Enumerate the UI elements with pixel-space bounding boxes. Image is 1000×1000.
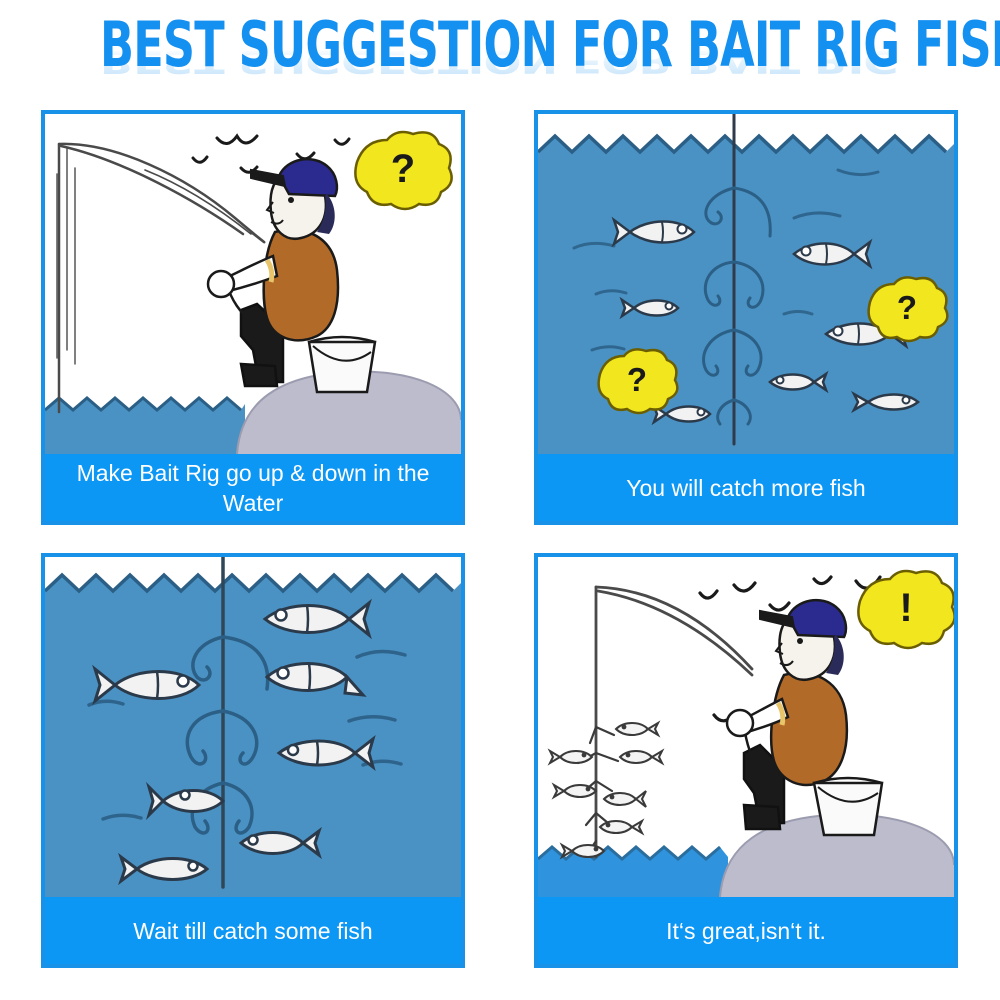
panel-3-caption-text: Wait till catch some fish [133,916,372,946]
thought-bubble-question: ? [355,132,451,209]
infographic-root: BEST SUGGESTION FOR BAIT RIG FISHING BES… [0,0,1000,1000]
panel-1-artwork: ? [45,114,461,454]
thought-bubble-exclamation: ! [858,571,954,648]
panel-step-4[interactable]: ! It‘s great,isn‘t it. [534,553,958,968]
panel-step-1[interactable]: ? Make Bait Rig go up & down in the Wate… [41,110,465,525]
panel-2-caption: You will catch more fish [538,454,954,521]
panel-1-caption-text: Make Bait Rig go up & down in the Water [55,458,451,518]
page-title: BEST SUGGESTION FOR BAIT RIG FISHING BES… [0,14,1000,104]
bucket [309,337,375,392]
thought-bubble-question: ? [599,349,678,413]
angler-casting-illustration: ? [45,114,461,454]
panel-3-caption: Wait till catch some fish [45,897,461,964]
panel-4-caption-text: It‘s great,isn‘t it. [666,916,826,946]
water-surface [45,398,245,454]
underwater-fish-illustration: ? ? [538,114,954,454]
angler-with-catch-illustration: ! [538,557,954,897]
panel-4-artwork: ! [538,557,954,897]
panel-2-caption-text: You will catch more fish [626,473,865,503]
exclamation-mark-glyph: ! [899,586,912,630]
underwater-fish-biting-illustration [45,557,461,897]
bucket [814,778,882,835]
question-mark-glyph: ? [391,147,415,191]
panel-3-artwork [45,557,461,897]
page-title-reflection: BEST SUGGESTION FOR BAIT RIG FISHING [100,46,900,77]
panel-1-caption: Make Bait Rig go up & down in the Water [45,454,461,521]
question-mark-glyph: ? [627,361,647,398]
panel-step-2[interactable]: ? ? You will catch more fish [534,110,958,525]
panel-step-3[interactable]: Wait till catch some fish [41,553,465,968]
thought-bubble-question: ? [869,277,948,341]
panel-2-artwork: ? ? [538,114,954,454]
question-mark-glyph: ? [897,289,917,326]
panel-4-caption: It‘s great,isn‘t it. [538,897,954,964]
